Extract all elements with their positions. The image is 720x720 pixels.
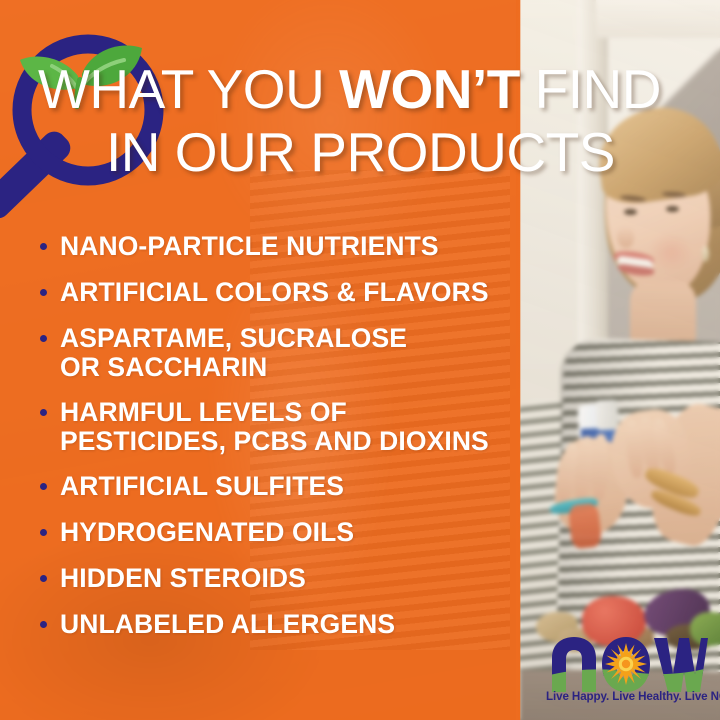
headline-line-2: IN OUR PRODUCTS: [38, 121, 698, 184]
list-item: HARMFUL LEVELS OF PESTICIDES, PCBS AND D…: [38, 398, 518, 456]
exclusions-list: NANO-PARTICLE NUTRIENTS ARTIFICIAL COLOR…: [38, 232, 518, 656]
list-item: ARTIFICIAL SULFITES: [38, 472, 518, 501]
list-item-line: HIDDEN STEROIDS: [60, 564, 518, 593]
headline-emphasis: WON’T: [339, 58, 520, 120]
person-bracelet: [568, 503, 602, 550]
person-eye: [624, 209, 637, 215]
list-item-line: HYDROGENATED OILS: [60, 518, 518, 547]
supplement-bottle-cap: [595, 399, 619, 430]
list-item: ASPARTAME, SUCRALOSE OR SACCHARIN: [38, 324, 518, 382]
list-item-line: ARTIFICIAL COLORS & FLAVORS: [60, 278, 518, 307]
headline-line-1: WHAT YOU WON’T FIND: [38, 58, 661, 120]
list-item-line: HARMFUL LEVELS OF: [60, 398, 518, 427]
person-nose: [617, 226, 634, 248]
list-item-line: ARTIFICIAL SULFITES: [60, 472, 518, 501]
person-cheek: [648, 232, 694, 272]
list-item-line: ASPARTAME, SUCRALOSE: [60, 324, 518, 353]
headline-part-1: WHAT YOU: [38, 58, 339, 120]
poster-root: WHAT YOU WON’T FIND IN OUR PRODUCTS NANO…: [0, 0, 720, 720]
logo-tagline: Live Happy. Live Healthy. Live NOW.: [546, 690, 708, 703]
list-item-line: NANO-PARTICLE NUTRIENTS: [60, 232, 518, 261]
page-title: WHAT YOU WON’T FIND IN OUR PRODUCTS: [38, 58, 698, 184]
person-eye: [666, 206, 679, 212]
headline-part-2: FIND: [520, 58, 661, 120]
list-item-line: UNLABELED ALLERGENS: [60, 610, 518, 639]
list-item: ARTIFICIAL COLORS & FLAVORS: [38, 278, 518, 307]
list-item: HIDDEN STEROIDS: [38, 564, 518, 593]
person-earring: [702, 246, 709, 262]
sunburst-icon: [605, 643, 647, 685]
list-item-line: OR SACCHARIN: [60, 353, 518, 382]
list-item: NANO-PARTICLE NUTRIENTS: [38, 232, 518, 261]
list-item: HYDROGENATED OILS: [38, 518, 518, 547]
list-item: UNLABELED ALLERGENS: [38, 610, 518, 639]
list-item-line: PESTICIDES, PCBS AND DIOXINS: [60, 427, 518, 456]
